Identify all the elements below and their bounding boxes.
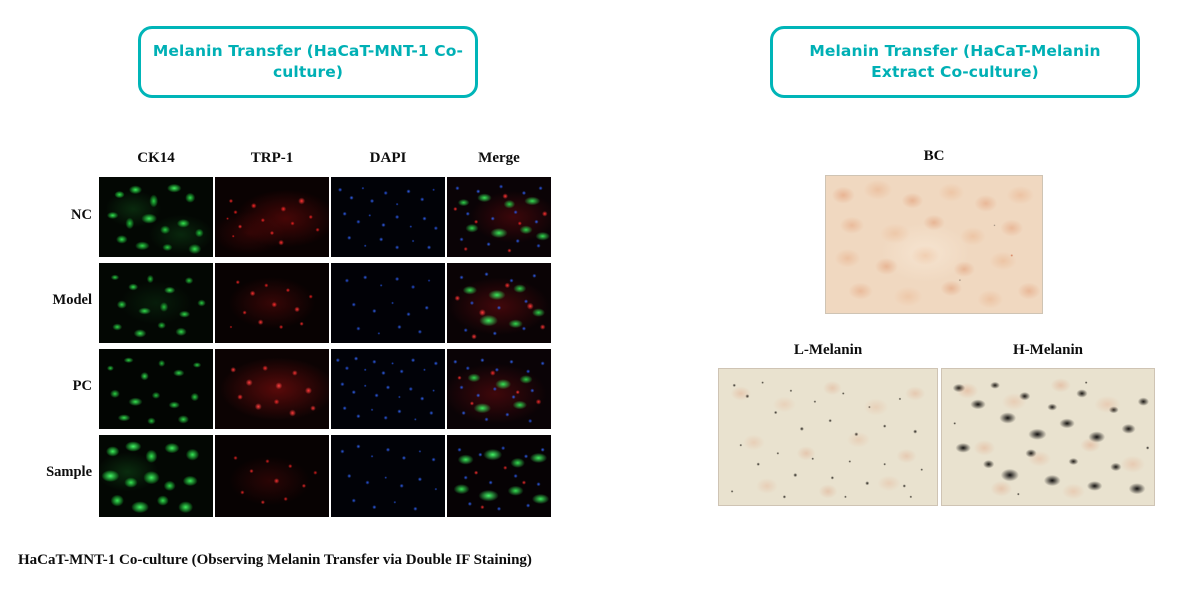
fluorescence-merge-channel <box>447 435 551 517</box>
brightfield-texture-h-melanin <box>942 369 1154 505</box>
histology-panel-l-melanin <box>718 368 938 506</box>
fluorescence-red-channel <box>215 435 329 517</box>
fluorescence-green-channel <box>99 435 213 517</box>
if-cell-sample-ck14 <box>99 435 213 517</box>
if-cell-nc-dapi <box>331 177 445 257</box>
title-box-right: Melanin Transfer (HaCaT-Melanin Extract … <box>770 26 1140 98</box>
column-header-merge: Merge <box>447 150 551 167</box>
histology-label-bc: BC <box>825 148 1043 165</box>
title-left-text: Melanin Transfer (HaCaT-MNT-1 Co-culture… <box>141 41 475 83</box>
row-label-pc: PC <box>24 378 92 395</box>
fluorescence-merge-channel <box>447 349 551 429</box>
if-cell-pc-merge <box>447 349 551 429</box>
title-box-left: Melanin Transfer (HaCaT-MNT-1 Co-culture… <box>138 26 478 98</box>
histology-label-h-melanin: H-Melanin <box>941 342 1155 359</box>
brightfield-texture-l-melanin <box>719 369 937 505</box>
row-label-nc: NC <box>24 207 92 224</box>
if-cell-model-merge <box>447 263 551 343</box>
fluorescence-merge-channel <box>447 177 551 257</box>
if-cell-sample-dapi <box>331 435 445 517</box>
if-cell-model-dapi <box>331 263 445 343</box>
histology-panel-h-melanin <box>941 368 1155 506</box>
figure-caption: HaCaT-MNT-1 Co-culture (Observing Melani… <box>18 552 532 569</box>
if-cell-model-ck14 <box>99 263 213 343</box>
fluorescence-blue-channel <box>331 177 445 257</box>
fluorescence-merge-channel <box>447 263 551 343</box>
fluorescence-green-channel <box>99 263 213 343</box>
if-cell-nc-trp1 <box>215 177 329 257</box>
brightfield-texture-bc <box>826 176 1042 313</box>
if-cell-pc-dapi <box>331 349 445 429</box>
if-cell-nc-ck14 <box>99 177 213 257</box>
row-label-model: Model <box>24 292 92 309</box>
column-header-trp1: TRP-1 <box>215 150 329 167</box>
if-cell-model-trp1 <box>215 263 329 343</box>
column-header-ck14: CK14 <box>99 150 213 167</box>
fluorescence-blue-channel <box>331 349 445 429</box>
if-cell-sample-trp1 <box>215 435 329 517</box>
if-cell-nc-merge <box>447 177 551 257</box>
histology-label-l-melanin: L-Melanin <box>718 342 938 359</box>
if-cell-sample-merge <box>447 435 551 517</box>
fluorescence-green-channel <box>99 177 213 257</box>
histology-panel-bc <box>825 175 1043 314</box>
if-cell-pc-trp1 <box>215 349 329 429</box>
fluorescence-blue-channel <box>331 435 445 517</box>
fluorescence-red-channel <box>215 263 329 343</box>
fluorescence-red-channel <box>215 349 329 429</box>
fluorescence-red-channel <box>215 177 329 257</box>
title-right-text: Melanin Transfer (HaCaT-Melanin Extract … <box>773 41 1137 83</box>
if-cell-pc-ck14 <box>99 349 213 429</box>
row-label-sample: Sample <box>24 464 92 481</box>
column-header-dapi: DAPI <box>331 150 445 167</box>
fluorescence-green-channel <box>99 349 213 429</box>
fluorescence-blue-channel <box>331 263 445 343</box>
figure-canvas: Melanin Transfer (HaCaT-MNT-1 Co-culture… <box>0 0 1188 592</box>
